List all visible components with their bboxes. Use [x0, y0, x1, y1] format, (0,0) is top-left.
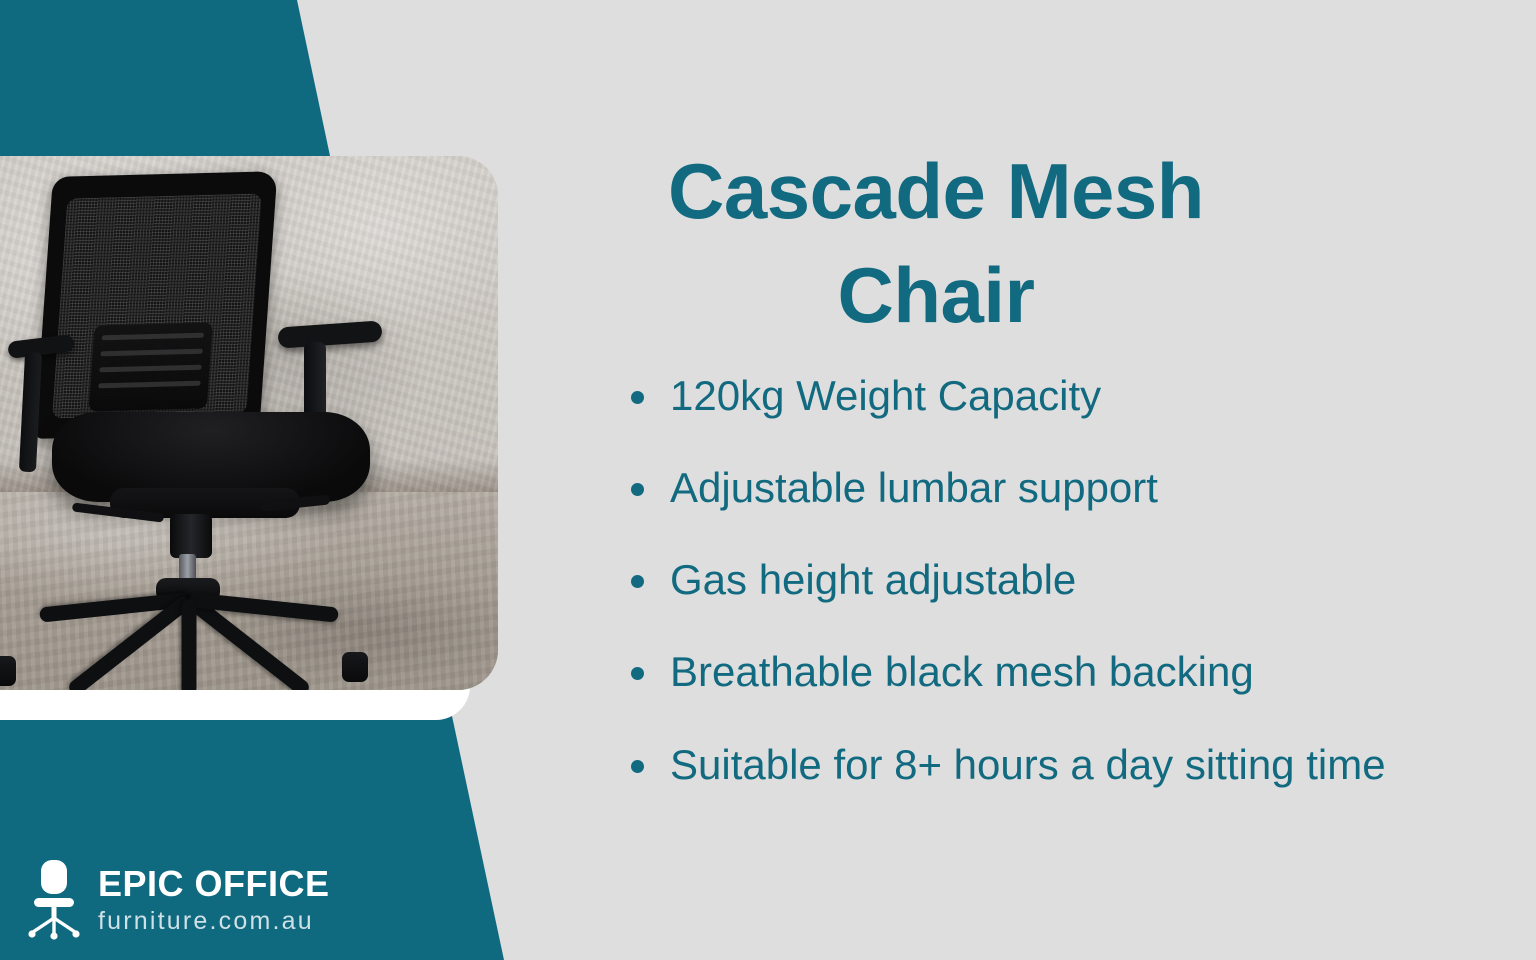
bullet-dot-icon — [631, 575, 644, 588]
page-title-line-1: Cascade Mesh — [668, 147, 1204, 235]
product-slide: Cascade Mesh Chair 120kg Weight Capacity… — [0, 0, 1536, 960]
feature-list: 120kg Weight Capacity Adjustable lumbar … — [620, 365, 1460, 826]
office-chair-illustration — [0, 156, 498, 690]
page-title-line-2: Chair — [838, 251, 1035, 339]
feature-text: Breathable black mesh backing — [670, 648, 1254, 695]
feature-list-item: Adjustable lumbar support — [620, 457, 1460, 519]
product-image-card — [0, 156, 498, 690]
bullet-dot-icon — [631, 483, 644, 496]
chair-lumbar-support — [89, 322, 213, 411]
brand-domain: furniture.com.au — [98, 909, 330, 934]
bullet-dot-icon — [631, 667, 644, 680]
feature-list-item: Suitable for 8+ hours a day sitting time — [620, 734, 1460, 796]
feature-list-item: Gas height adjustable — [620, 549, 1460, 611]
feature-text: 120kg Weight Capacity — [670, 372, 1101, 419]
brand-logo: EPIC OFFICE furniture.com.au — [26, 858, 330, 942]
bullet-dot-icon — [631, 391, 644, 404]
chair-castor — [342, 652, 368, 682]
office-chair-icon — [26, 858, 82, 942]
feature-list-item: 120kg Weight Capacity — [620, 365, 1460, 427]
chair-armrest-post-left — [19, 352, 42, 473]
chair-mesh-backrest — [35, 171, 278, 439]
feature-text: Suitable for 8+ hours a day sitting time — [670, 741, 1386, 788]
chair-armrest-right — [277, 320, 382, 348]
feature-text: Adjustable lumbar support — [670, 464, 1158, 511]
bullet-dot-icon — [631, 760, 644, 773]
page-title: Cascade Mesh Chair — [600, 140, 1272, 347]
chair-five-star-base — [0, 586, 392, 690]
product-photo — [0, 156, 498, 690]
decor-teal-top-shape — [0, 0, 340, 170]
brand-name: EPIC OFFICE — [98, 866, 330, 902]
feature-list-item: Breathable black mesh backing — [620, 641, 1460, 703]
chair-gas-cylinder-cover — [170, 514, 212, 558]
chair-castor — [0, 656, 16, 686]
feature-text: Gas height adjustable — [670, 556, 1076, 603]
brand-logo-text: EPIC OFFICE furniture.com.au — [98, 866, 330, 934]
decor-white-band — [0, 686, 470, 720]
